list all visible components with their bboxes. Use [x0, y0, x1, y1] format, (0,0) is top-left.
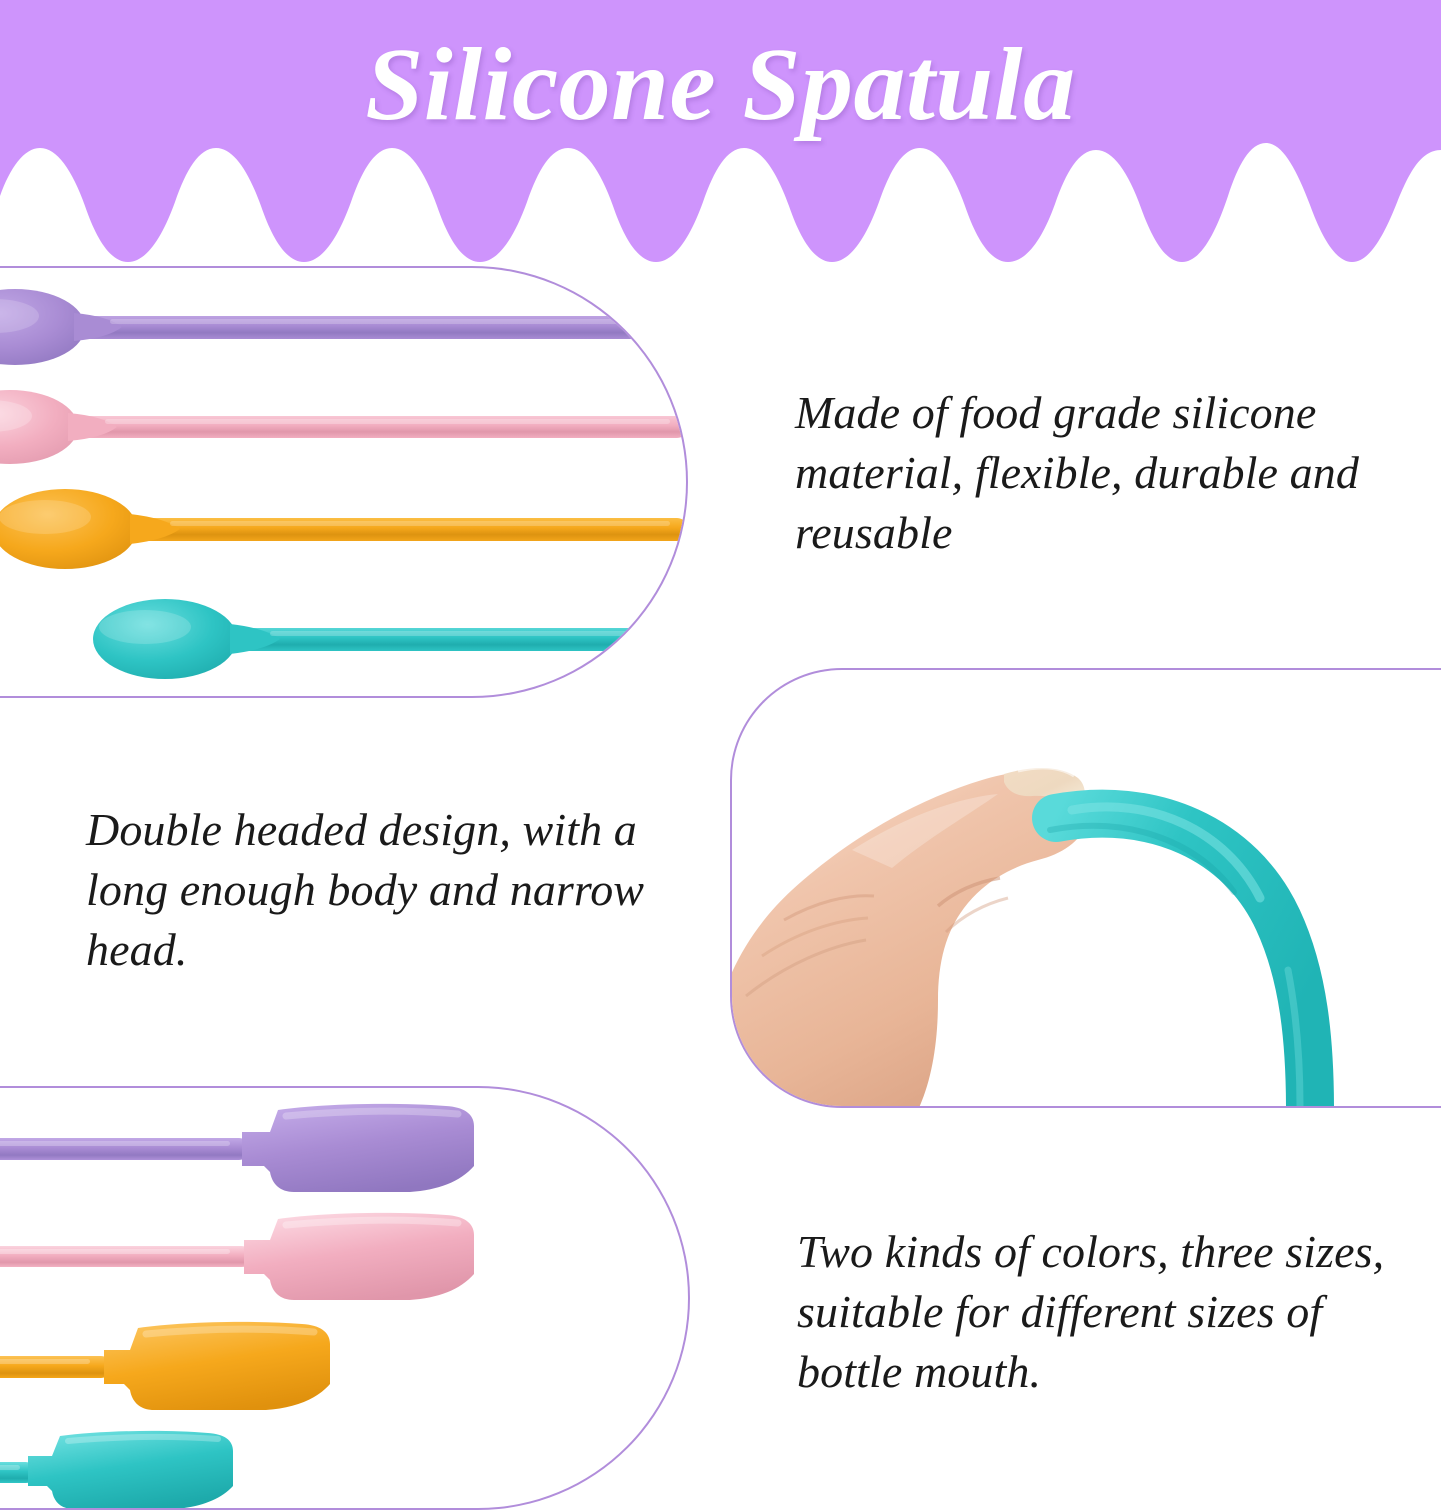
blade-item-purple [0, 1104, 474, 1192]
blade-item-teal [0, 1431, 233, 1509]
feature-text-design: Double headed design, with a long enough… [86, 800, 686, 979]
spoon-spatulas-illustration [0, 268, 688, 698]
spoon-item-teal [93, 599, 688, 679]
blade-item-pink [0, 1213, 474, 1300]
panel-flexibility-demo [730, 668, 1441, 1108]
panel-blade-end-spatulas [0, 1086, 690, 1510]
bent-spatula-rod [1050, 807, 1310, 1108]
finger-bending-illustration [732, 670, 1441, 1108]
blade-spatulas-illustration [0, 1088, 690, 1510]
panel-spoon-end-spatulas [0, 266, 688, 698]
spoon-item-purple [0, 289, 688, 365]
feature-text-sizes: Two kinds of colors, three sizes, suitab… [797, 1222, 1387, 1401]
spoon-item-orange [0, 489, 688, 569]
page-title: Silicone Spatula [0, 28, 1441, 142]
feature-text-material: Made of food grade silicone material, fl… [795, 383, 1395, 562]
spoon-item-pink [0, 390, 688, 464]
blade-item-orange [0, 1322, 330, 1410]
